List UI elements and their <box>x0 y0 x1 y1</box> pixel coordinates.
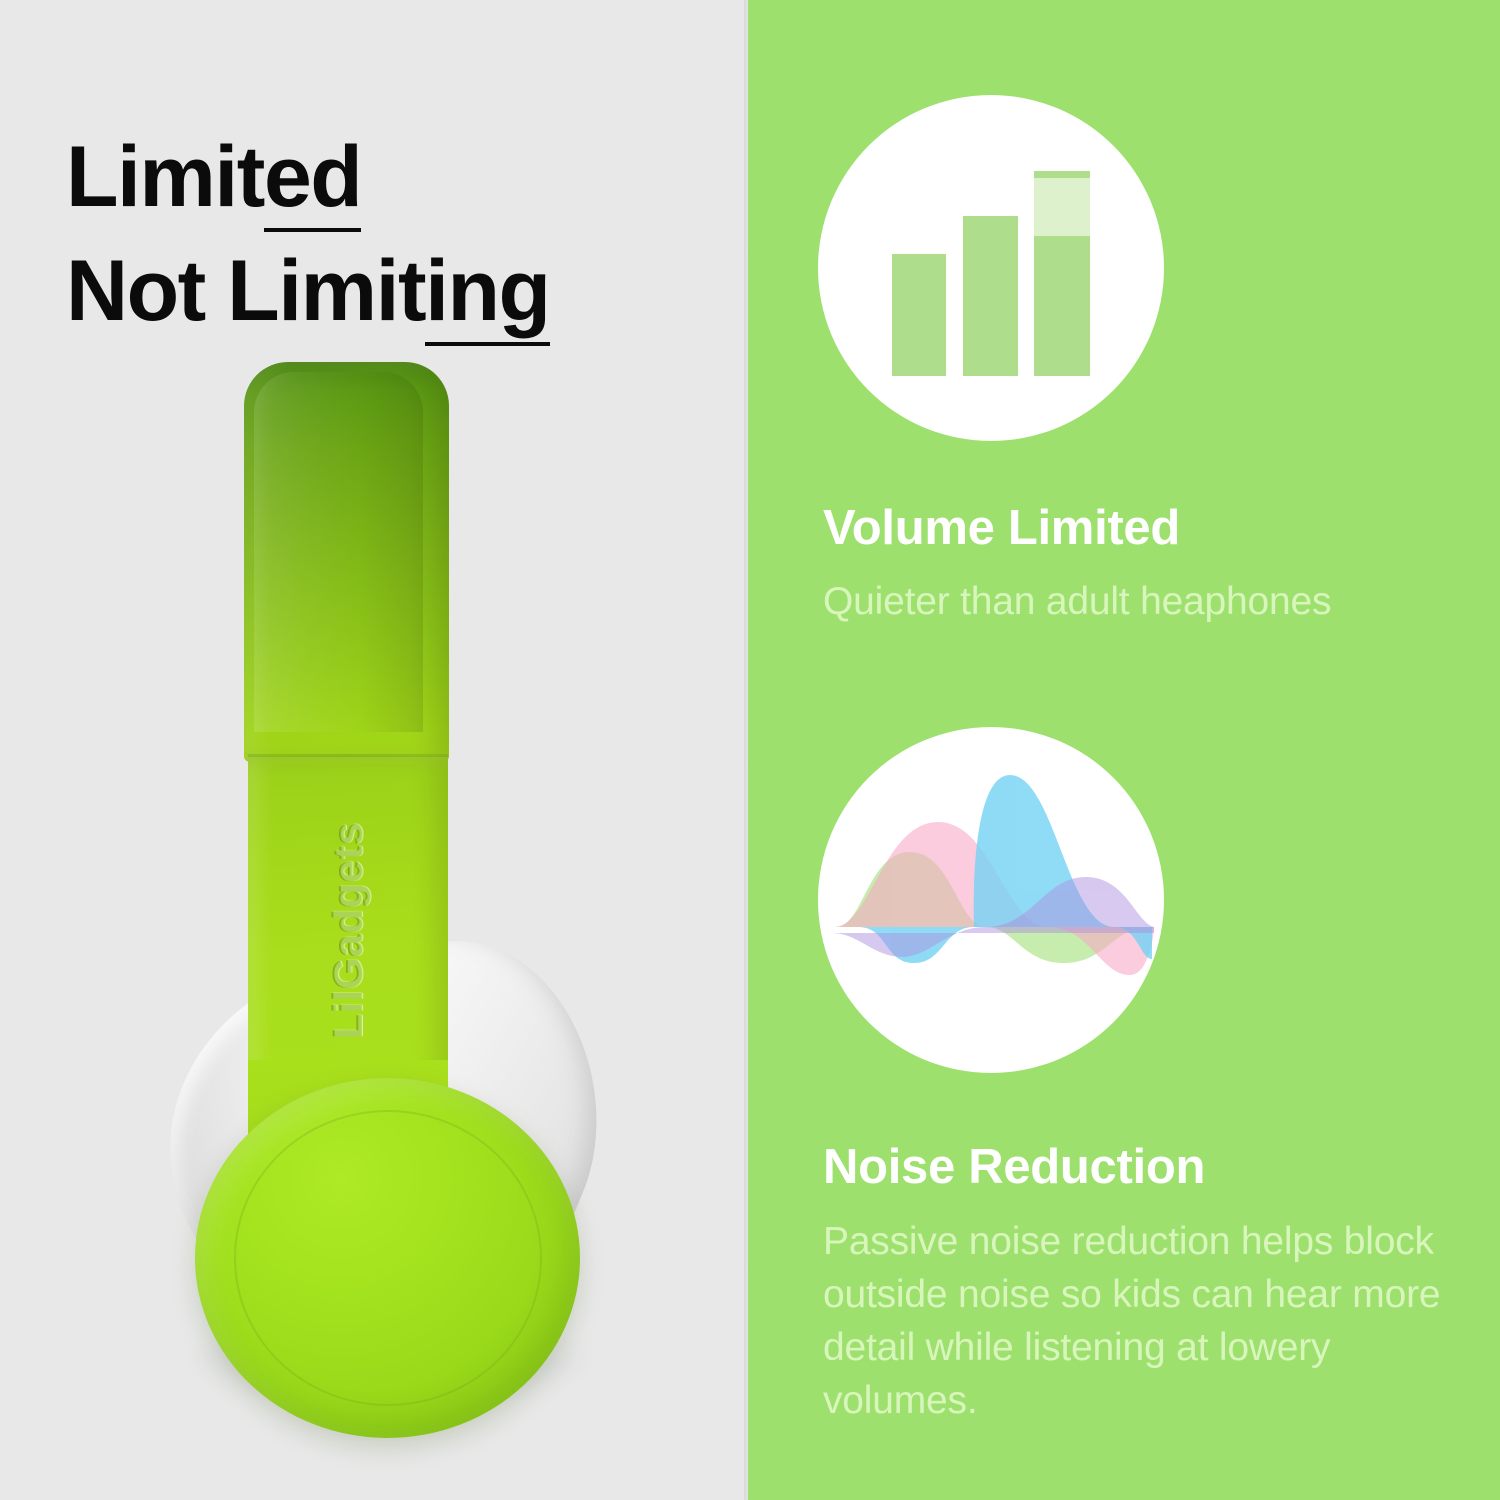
feature-title: Noise Reduction <box>823 1139 1205 1195</box>
headphone-arm-seam <box>248 754 448 757</box>
headline-line-1: Limited <box>66 129 361 232</box>
right-panel: Volume Limited Quieter than adult heapho… <box>748 0 1500 1500</box>
page-title: Limited Not Limiting <box>66 120 550 349</box>
bar-3-highlight <box>1034 178 1090 236</box>
headphone-arm <box>248 756 448 1086</box>
feature-title: Volume Limited <box>823 500 1180 556</box>
headline-line2-plain: Not Limit <box>66 243 425 339</box>
headphones-product-image: LilGadgets <box>150 360 620 1430</box>
ear-cup <box>195 1078 580 1438</box>
headline-line2-underlined: ing <box>425 243 549 346</box>
headband-slider <box>244 362 449 762</box>
bar-2 <box>963 216 1018 376</box>
feature-body: Quieter than adult heaphones <box>823 575 1448 628</box>
headline-line1-underlined: ed <box>264 129 361 232</box>
bar-1 <box>892 254 946 376</box>
headline-line-2: Not Limiting <box>66 234 550 348</box>
left-panel: Limited Not Limiting LilGadgets <box>0 0 748 1500</box>
bar-chart-icon <box>818 95 1164 441</box>
product-feature-banner: Limited Not Limiting LilGadgets <box>0 0 1500 1500</box>
feature-body: Passive noise reduction helps block outs… <box>823 1215 1448 1427</box>
sound-wave-icon <box>818 727 1164 1073</box>
headline-line1-plain: Limit <box>66 129 264 225</box>
